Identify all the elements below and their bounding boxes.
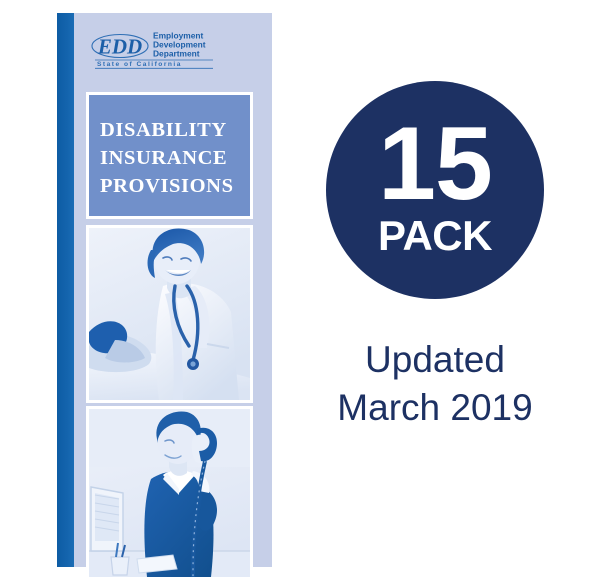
woman-on-telephone-photo xyxy=(86,406,253,580)
brochure-cover: EDD Employment Development Department St… xyxy=(57,13,272,567)
pack-count-number: 15 xyxy=(378,117,492,213)
updated-label: Updated xyxy=(310,336,560,384)
pack-count-badge: 15 PACK xyxy=(326,81,544,299)
logo-tagline: State of California xyxy=(97,61,182,68)
pack-count-label: PACK xyxy=(378,215,492,257)
svg-text:EDD: EDD xyxy=(97,35,142,59)
edd-logo: EDD Employment Development Department St… xyxy=(91,29,217,69)
brochure-front-face: EDD Employment Development Department St… xyxy=(74,13,272,567)
updated-date: March 2019 xyxy=(310,384,560,432)
updated-date-block: Updated March 2019 xyxy=(310,336,560,432)
product-image-stage: EDD Employment Development Department St… xyxy=(0,0,600,580)
brochure-title-panel: DISABILITY INSURANCE PROVISIONS xyxy=(86,92,253,219)
brochure-spine-bar xyxy=(57,13,74,567)
brochure-title: DISABILITY INSURANCE PROVISIONS xyxy=(100,116,244,200)
doctor-with-patient-photo xyxy=(86,225,253,403)
logo-line-3: Department xyxy=(153,48,200,58)
